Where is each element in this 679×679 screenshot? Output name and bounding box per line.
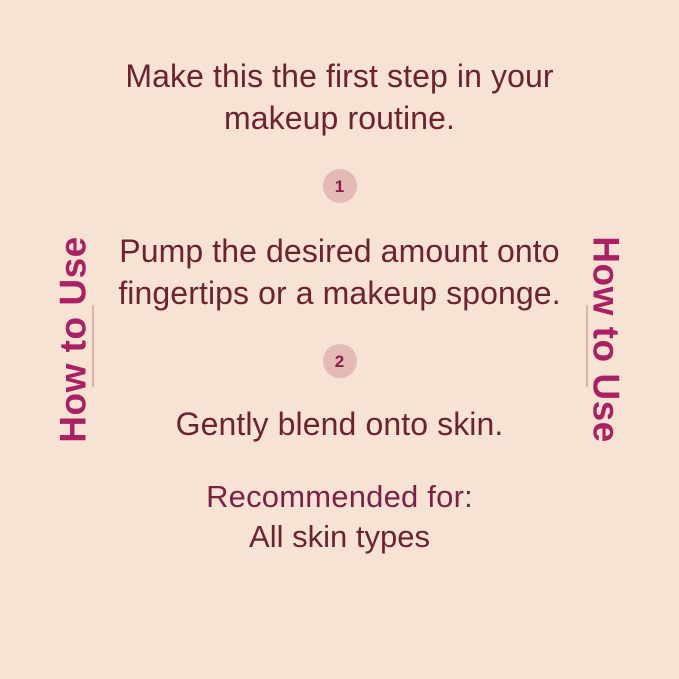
spacer: [110, 446, 569, 478]
step-badge-2-wrap: 2: [110, 344, 569, 378]
spacer: [110, 378, 569, 404]
spacer: [110, 139, 569, 169]
recommended-for-title: Recommended for:: [110, 478, 569, 517]
recommended-for-value: All skin types: [110, 517, 569, 557]
step-text-intro: Make this the first step in your makeup …: [110, 56, 569, 139]
how-to-use-panel: How to Use How to Use Make this the firs…: [0, 0, 679, 679]
side-label-left-text: How to Use: [55, 236, 92, 442]
divider-right: [586, 305, 588, 387]
steps-content: Make this the first step in your makeup …: [110, 56, 569, 557]
spacer: [110, 314, 569, 344]
step-text-1: Pump the desired amount onto fingertips …: [110, 231, 569, 314]
step-text-2: Gently blend onto skin.: [110, 404, 569, 446]
side-label-right-text: How to Use: [588, 236, 625, 442]
divider-left: [92, 305, 94, 387]
step-badge-1-wrap: 1: [110, 169, 569, 203]
spacer: [110, 203, 569, 231]
step-badge-1: 1: [323, 169, 357, 203]
step-badge-2: 2: [323, 344, 357, 378]
